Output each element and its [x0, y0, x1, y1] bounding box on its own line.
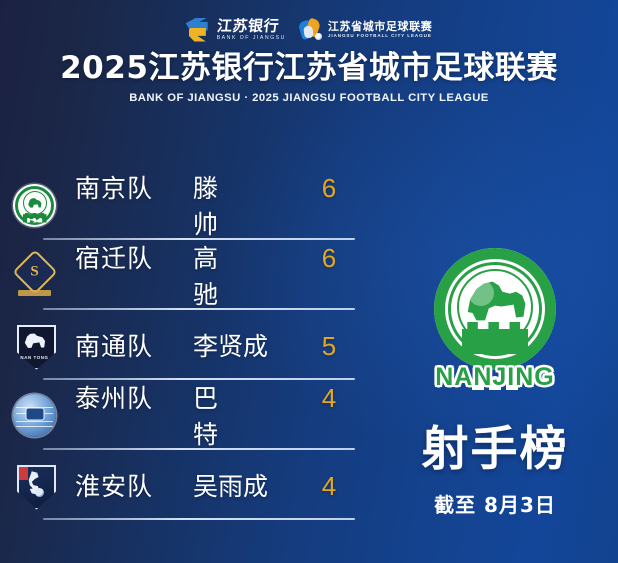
table-row[interactable]: 淮安队 吴雨成 4 [0, 450, 372, 520]
header: 江苏银行 BANK OF JIANGSU 江苏省城市足球联赛 JIANGSU F… [0, 0, 618, 112]
featured-panel: NANJING 射手榜 截至 8月3日 [372, 170, 618, 518]
table-row[interactable]: 南京队 滕 帅 6 [0, 170, 372, 240]
league-name-en: JIANGSU FOOTBALL CITY LEAGUE [328, 34, 432, 39]
player-name: 李贤成 [193, 327, 305, 363]
suqian-crest-icon: S [13, 254, 56, 297]
scoreboard-graphic: 江苏银行 BANK OF JIANGSU 江苏省城市足球联赛 JIANGSU F… [0, 0, 618, 563]
logo-bar: 江苏银行 BANK OF JIANGSU 江苏省城市足球联赛 JIANGSU F… [0, 0, 618, 46]
team-name: 淮安队 [75, 467, 179, 503]
team-name: 宿迁队 [75, 239, 179, 275]
league-player-mark-icon [299, 18, 323, 42]
league-name-cn: 江苏省城市足球联赛 [328, 21, 432, 32]
team-name: 南京队 [75, 169, 179, 205]
page-title-cn: 2025江苏银行江苏省城市足球联赛 [0, 52, 618, 85]
team-name: 南通队 [75, 327, 179, 363]
goal-count: 4 [307, 471, 351, 502]
as-of-date: 截至 8月3日 [372, 489, 618, 518]
row-divider [43, 518, 355, 521]
table-row[interactable]: 泰州队 巴 特 4 [0, 380, 372, 450]
bank-of-jiangsu-name-cn: 江苏银行 [216, 19, 287, 34]
page-title-en: BANK OF JIANGSU · 2025 JIANGSU FOOTBALL … [0, 92, 618, 104]
table-row[interactable]: NAN TONG 南通队 李贤成 5 [0, 310, 372, 380]
goal-count: 6 [307, 173, 351, 204]
table-row[interactable]: S 宿迁队 高 驰 6 [0, 240, 372, 310]
league-logo: 江苏省城市足球联赛 JIANGSU FOOTBALL CITY LEAGUE [299, 18, 432, 42]
huaian-crest-icon [13, 464, 56, 507]
taizhou-crest-icon [13, 394, 56, 437]
nanjing-large-crest-icon: NANJING [428, 248, 562, 390]
top-scorers-list: 南京队 滕 帅 6 S 宿迁队 高 驰 6 NAN TONG 南通队 李 [0, 170, 372, 520]
goal-count: 4 [307, 383, 351, 414]
nanjing-crest-icon [13, 184, 56, 227]
nanjing-crest-label: NANJING [428, 363, 562, 392]
bank-of-jiangsu-logo: 江苏银行 BANK OF JIANGSU [186, 18, 286, 43]
bank-of-jiangsu-mark-icon [186, 18, 212, 43]
goal-count: 5 [307, 331, 351, 362]
board-title: 射手榜 [372, 426, 618, 473]
player-name: 吴雨成 [193, 467, 305, 503]
team-name: 泰州队 [75, 379, 179, 415]
player-name: 巴 特 [193, 379, 305, 451]
player-name: 滕 帅 [193, 169, 305, 241]
nantong-crest-icon: NAN TONG [13, 324, 56, 367]
bank-of-jiangsu-name-en: BANK OF JIANGSU [217, 36, 286, 41]
goal-count: 6 [307, 243, 351, 274]
player-name: 高 驰 [193, 239, 305, 311]
